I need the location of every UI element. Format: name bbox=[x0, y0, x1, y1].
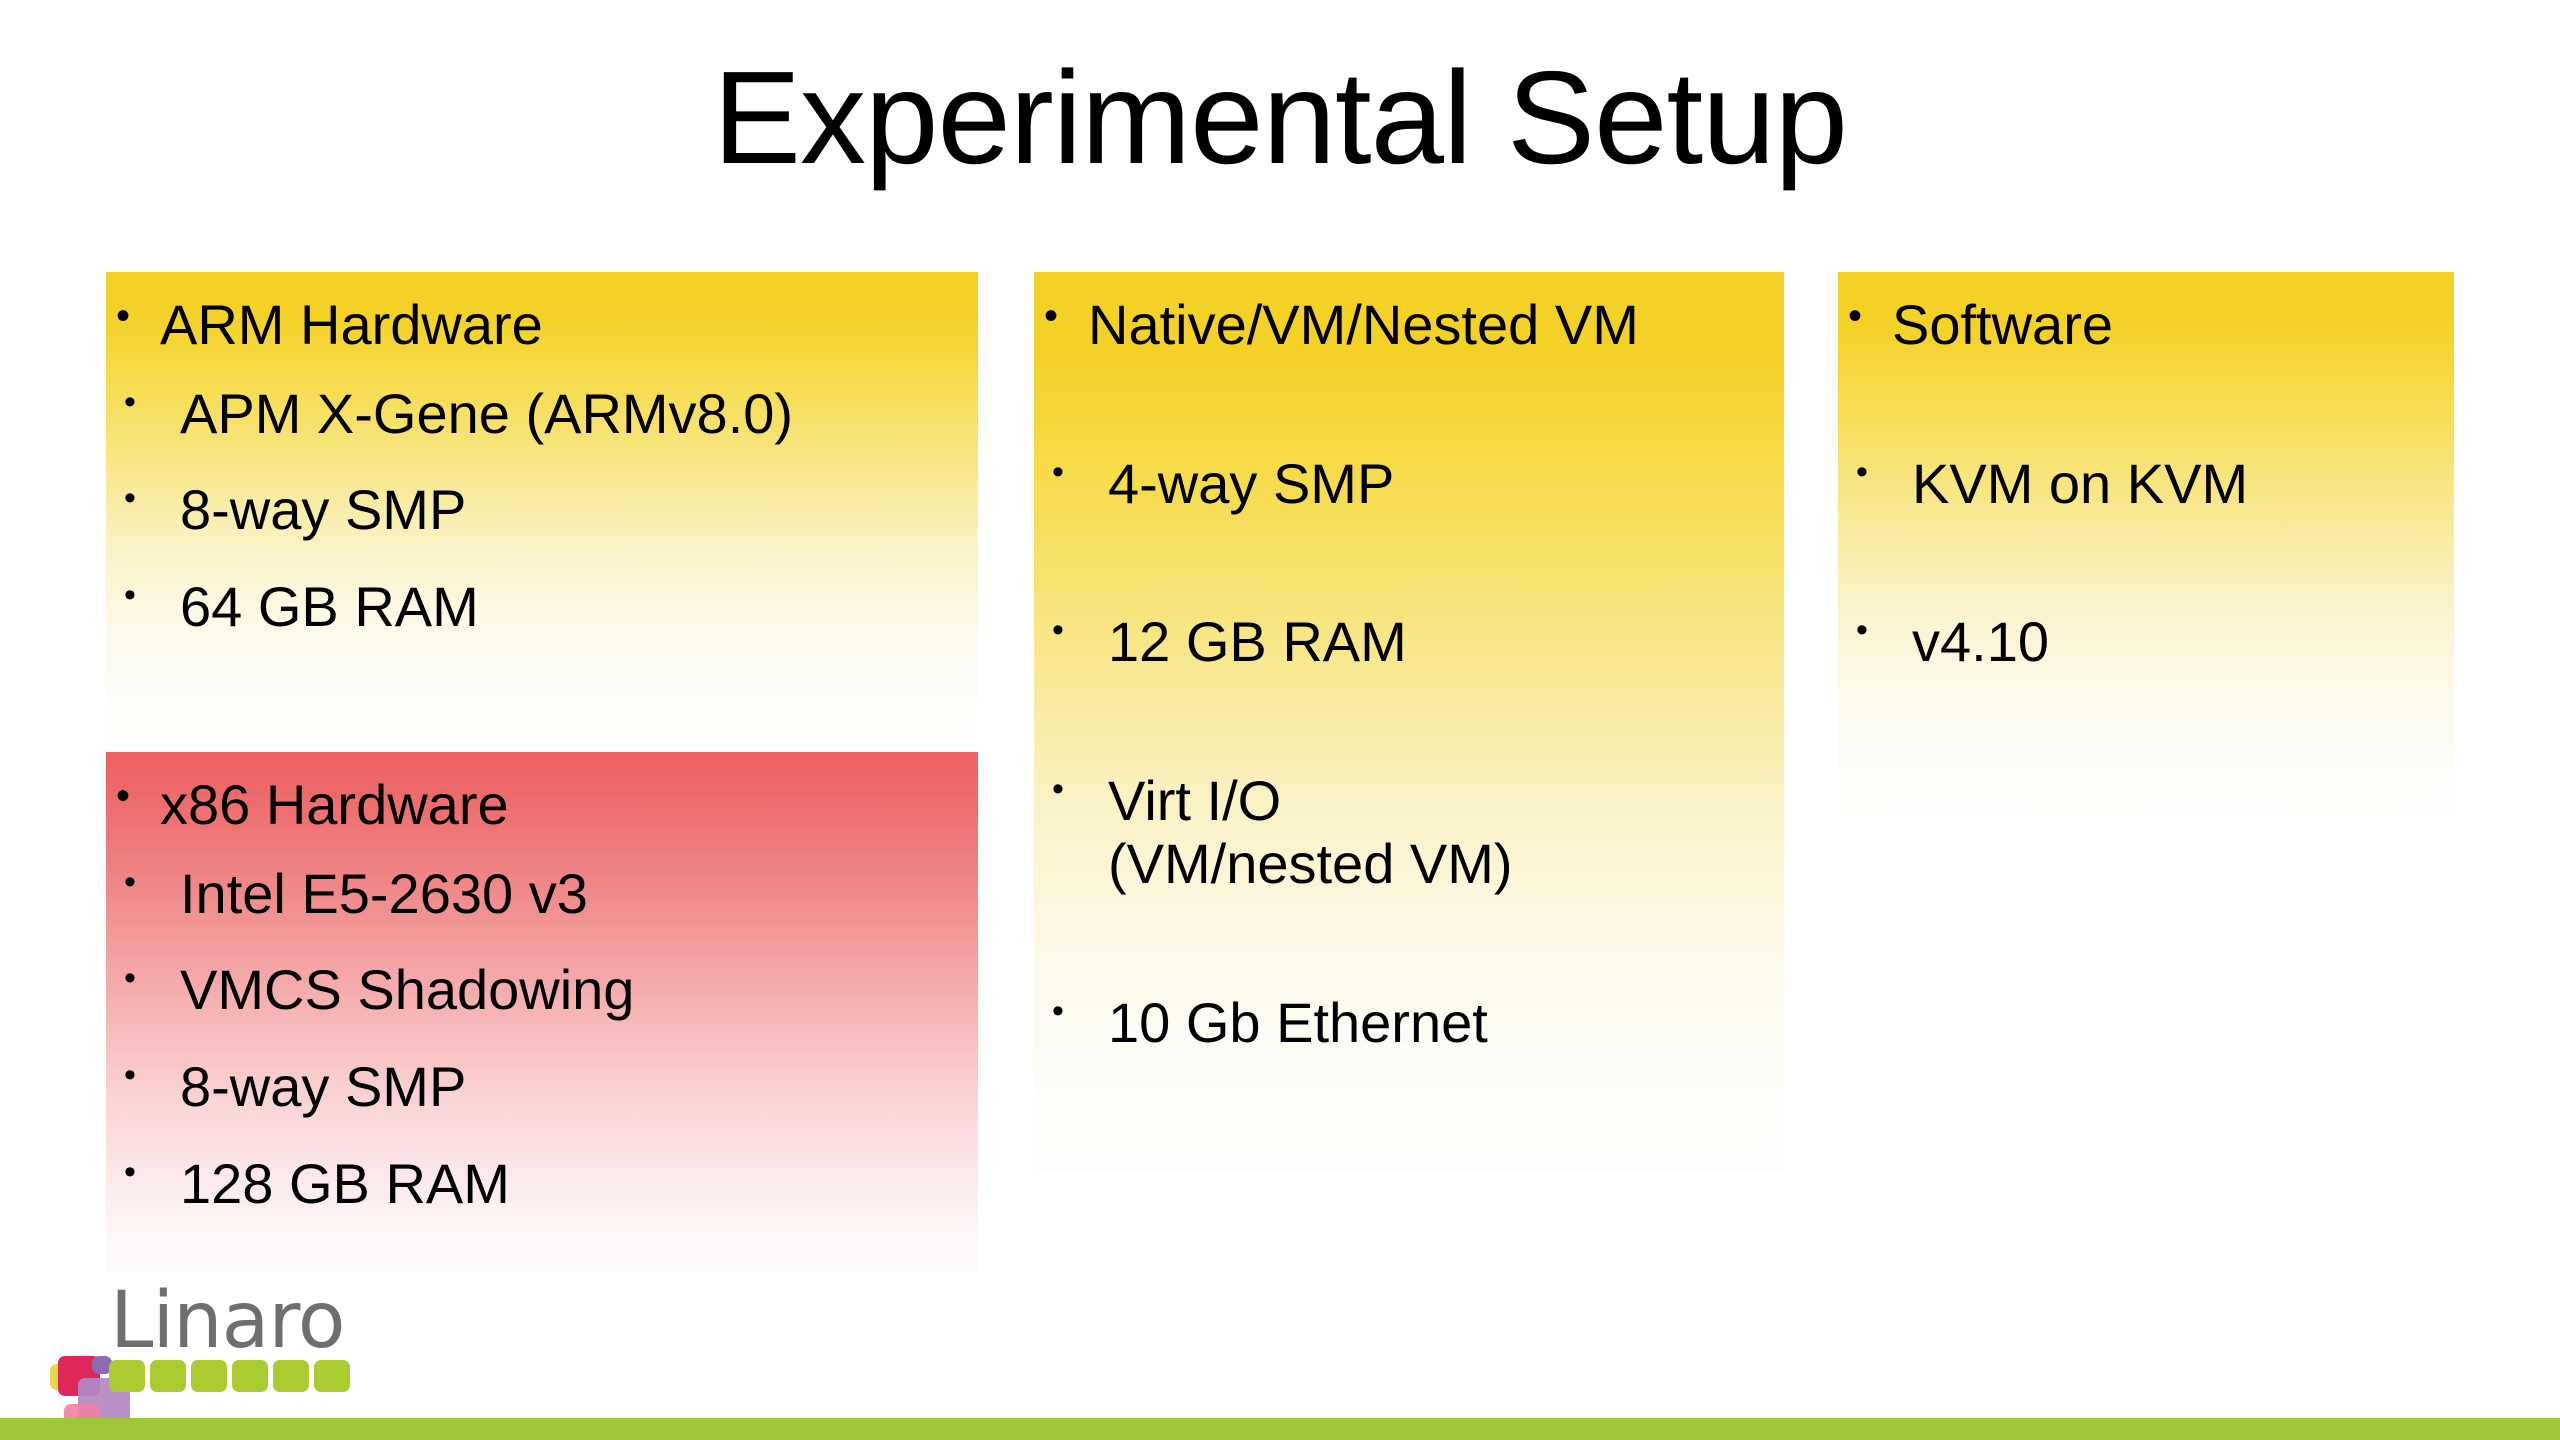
vm-config-panel: • Native/VM/Nested VM • 4-way SMP • 12 G… bbox=[1034, 272, 1784, 1172]
bullet-dot-icon: • bbox=[1848, 611, 1912, 649]
x86-hardware-bullet-list: • x86 Hardware • Intel E5-2630 v3 • VMCS… bbox=[106, 774, 978, 1216]
software-bullet-list: • Software • KVM on KVM • v4.10 bbox=[1838, 294, 2454, 674]
bullet-dot-icon: • bbox=[116, 294, 160, 339]
list-item: • ARM Hardware bbox=[116, 294, 968, 357]
vm-config-bullet-list: • Native/VM/Nested VM • 4-way SMP • 12 G… bbox=[1034, 294, 1784, 1054]
bullet-dot-icon: • bbox=[1848, 453, 1912, 491]
arm-hardware-bullet-list: • ARM Hardware • APM X-Gene (ARMv8.0) • … bbox=[106, 294, 978, 639]
bullet-dot-icon: • bbox=[1044, 992, 1108, 1030]
x86-hardware-panel: • x86 Hardware • Intel E5-2630 v3 • VMCS… bbox=[106, 752, 978, 1272]
list-item: • Virt I/O (VM/nested VM) bbox=[1044, 770, 1774, 895]
bullet-dot-icon: • bbox=[1044, 770, 1108, 808]
bullet-text: Intel E5-2630 v3 bbox=[180, 863, 968, 926]
bullet-text: 128 GB RAM bbox=[180, 1153, 968, 1216]
logo-square-green-icon bbox=[191, 1360, 227, 1392]
bullet-dot-icon: • bbox=[1044, 611, 1108, 649]
bullet-text: Virt I/O (VM/nested VM) bbox=[1108, 770, 1774, 895]
slide-canvas: Experimental Setup • ARM Hardware • APM … bbox=[0, 0, 2560, 1440]
bullet-text: VMCS Shadowing bbox=[180, 959, 968, 1022]
list-item: • Software bbox=[1848, 294, 2444, 357]
list-item: • v4.10 bbox=[1848, 611, 2444, 674]
list-item: • Native/VM/Nested VM bbox=[1044, 294, 1774, 357]
list-item: • 12 GB RAM bbox=[1044, 611, 1774, 674]
list-item: • 10 Gb Ethernet bbox=[1044, 992, 1774, 1055]
list-item: • 4-way SMP bbox=[1044, 453, 1774, 516]
bullet-text: APM X-Gene (ARMv8.0) bbox=[180, 383, 968, 446]
arm-hardware-panel: • ARM Hardware • APM X-Gene (ARMv8.0) • … bbox=[106, 272, 978, 740]
bullet-dot-icon: • bbox=[116, 774, 160, 819]
logo-square-green-icon bbox=[232, 1360, 268, 1392]
bullet-dot-icon: • bbox=[116, 1153, 180, 1191]
bullet-text: 12 GB RAM bbox=[1108, 611, 1774, 674]
footer-accent-bar bbox=[0, 1418, 2560, 1440]
bullet-dot-icon: • bbox=[1044, 294, 1088, 339]
linaro-wordmark: Linaro bbox=[110, 1282, 344, 1360]
logo-square-green-icon bbox=[314, 1360, 350, 1392]
bullet-dot-icon: • bbox=[116, 479, 180, 517]
bullet-dot-icon: • bbox=[116, 863, 180, 901]
list-item: • 8-way SMP bbox=[116, 1056, 968, 1119]
list-item: • APM X-Gene (ARMv8.0) bbox=[116, 383, 968, 446]
bullet-text: 8-way SMP bbox=[180, 1056, 968, 1119]
bullet-text: 4-way SMP bbox=[1108, 453, 1774, 516]
bullet-text: v4.10 bbox=[1912, 611, 2444, 674]
linaro-logo: Linaro bbox=[52, 1286, 342, 1416]
bullet-dot-icon: • bbox=[116, 576, 180, 614]
bullet-dot-icon: • bbox=[116, 959, 180, 997]
list-item: • 64 GB RAM bbox=[116, 576, 968, 639]
bullet-text: 64 GB RAM bbox=[180, 576, 968, 639]
list-item: • Intel E5-2630 v3 bbox=[116, 863, 968, 926]
bullet-text: KVM on KVM bbox=[1912, 453, 2444, 516]
list-item: • VMCS Shadowing bbox=[116, 959, 968, 1022]
list-item: • 128 GB RAM bbox=[116, 1153, 968, 1216]
list-item: • x86 Hardware bbox=[116, 774, 968, 837]
bullet-dot-icon: • bbox=[1848, 294, 1892, 339]
list-item: • 8-way SMP bbox=[116, 479, 968, 542]
bullet-text: x86 Hardware bbox=[160, 774, 968, 837]
bullet-dot-icon: • bbox=[116, 383, 180, 421]
bullet-text: ARM Hardware bbox=[160, 294, 968, 357]
logo-square-green-icon bbox=[273, 1360, 309, 1392]
list-item: • KVM on KVM bbox=[1848, 453, 2444, 516]
logo-square-green-icon bbox=[150, 1360, 186, 1392]
logo-square-green-icon bbox=[109, 1360, 145, 1392]
bullet-dot-icon: • bbox=[1044, 453, 1108, 491]
page-title: Experimental Setup bbox=[0, 52, 2560, 184]
bullet-text: 10 Gb Ethernet bbox=[1108, 992, 1774, 1055]
software-panel: • Software • KVM on KVM • v4.10 bbox=[1838, 272, 2454, 817]
bullet-text: Software bbox=[1892, 294, 2444, 357]
bullet-dot-icon: • bbox=[116, 1056, 180, 1094]
bullet-text: Native/VM/Nested VM bbox=[1088, 294, 1774, 357]
bullet-text: 8-way SMP bbox=[180, 479, 968, 542]
